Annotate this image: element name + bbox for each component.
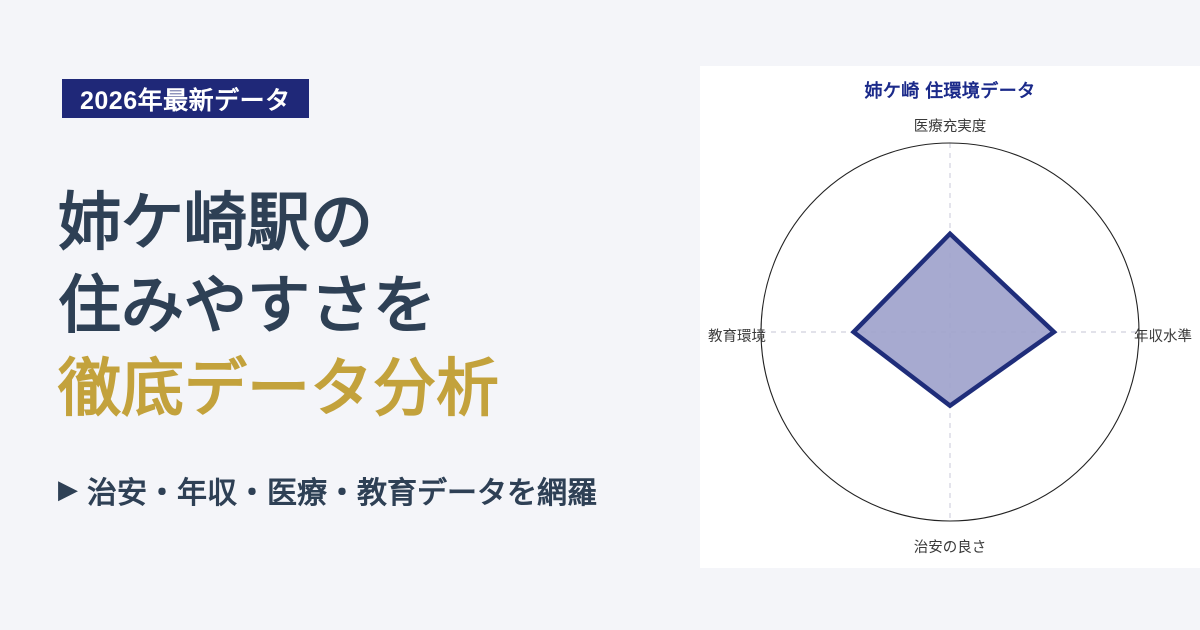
axis-label-bottom: 治安の良さ bbox=[700, 536, 1200, 557]
status-badge: 2026年最新データ bbox=[62, 79, 309, 118]
subtitle-text: 治安・年収・医療・教育データを網羅 bbox=[87, 468, 597, 512]
subtitle: ▶ 治安・年収・医療・教育データを網羅 bbox=[58, 468, 597, 512]
axis-label-right: 年収水準 bbox=[1134, 325, 1192, 346]
badge-label: 2026年最新データ bbox=[80, 81, 291, 117]
headline-line-2: 住みやすさを bbox=[58, 265, 678, 348]
triangle-bullet-icon: ▶ bbox=[58, 476, 78, 502]
axis-label-left: 教育環境 bbox=[708, 325, 766, 346]
headline-line-1: 姉ケ崎駅の bbox=[58, 182, 678, 265]
page-title: 姉ケ崎駅の 住みやすさを 徹底データ分析 bbox=[58, 182, 678, 431]
radar-chart-panel: 姉ケ崎 住環境データ 医療充実度 年収水準 治安の良さ 教育環境 bbox=[700, 66, 1200, 568]
radar-series-polygon bbox=[854, 234, 1054, 406]
radar-chart-svg bbox=[700, 66, 1200, 568]
editorial-column: 2026年最新データ 姉ケ崎駅の 住みやすさを 徹底データ分析 ▶ 治安・年収・… bbox=[0, 0, 700, 630]
headline-line-3: 徹底データ分析 bbox=[58, 348, 678, 431]
axis-label-top: 医療充実度 bbox=[700, 115, 1200, 136]
